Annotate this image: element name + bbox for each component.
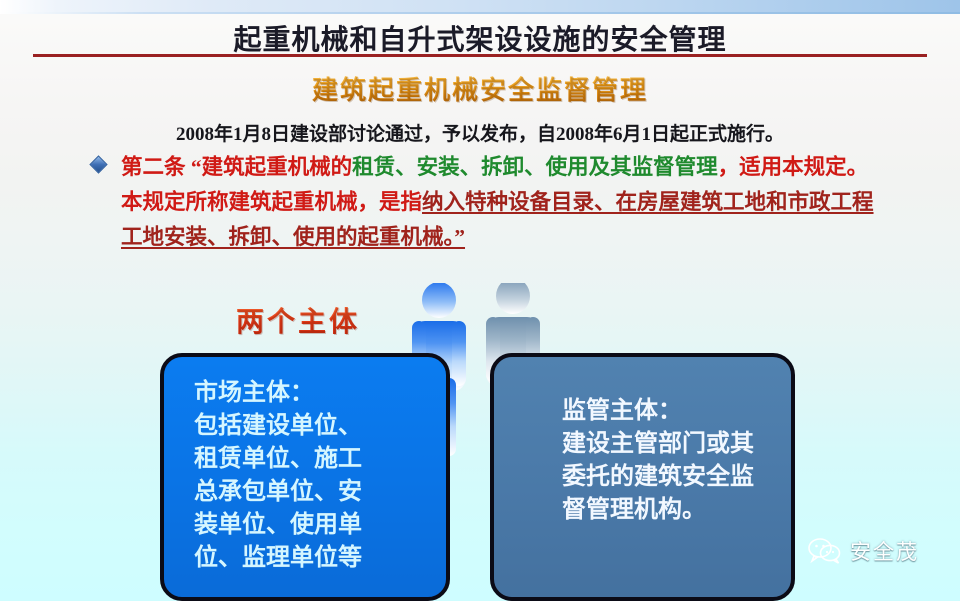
promulgation-date-line: 2008年1月8日建设部讨论通过，予以发布，自2008年6月1日起正式施行。 (0, 119, 960, 146)
watermark-label: 安全茂 (850, 536, 919, 566)
regulator-subject-box: 监管主体： 建设主管部门或其 委托的建筑安全监 督管理机构。 (490, 353, 795, 601)
page-title: 起重机械和自升式架设设施的安全管理 (0, 18, 960, 58)
diamond-bullet-icon (89, 155, 107, 173)
market-subject-box: 市场主体： 包括建设单位、 租赁单位、施工 总承包单位、安 装单位、使用单 位、… (160, 353, 450, 601)
wechat-icon (808, 538, 842, 564)
watermark: 安全茂 (808, 536, 919, 566)
regulator-subject-text: 监管主体： 建设主管部门或其 委托的建筑安全监 督管理机构。 (562, 395, 782, 527)
slide-canvas: 起重机械和自升式架设设施的安全管理 建筑起重机械安全监督管理 2008年1月8日… (0, 0, 960, 601)
title-divider-rule (33, 54, 927, 57)
clause-segment-green: 租赁、安装、拆卸、使用及其监督管理 (352, 155, 718, 179)
page-subtitle: 建筑起重机械安全监督管理 (0, 70, 960, 107)
clause-bullet-row: 第二条 “建筑起重机械的租赁、安装、拆卸、使用及其监督管理，适用本规定。本规定所… (92, 150, 882, 255)
two-subjects-label: 两个主体 (236, 300, 360, 340)
top-band-accent-line (0, 12, 960, 14)
clause-segment-red-1: 第二条 “建筑起重机械的 (121, 155, 352, 179)
clause-block: 第二条 “建筑起重机械的租赁、安装、拆卸、使用及其监督管理，适用本规定。本规定所… (92, 150, 882, 255)
clause-text: 第二条 “建筑起重机械的租赁、安装、拆卸、使用及其监督管理，适用本规定。本规定所… (121, 150, 882, 255)
market-subject-text: 市场主体： 包括建设单位、 租赁单位、施工 总承包单位、安 装单位、使用单 位、… (194, 377, 404, 575)
